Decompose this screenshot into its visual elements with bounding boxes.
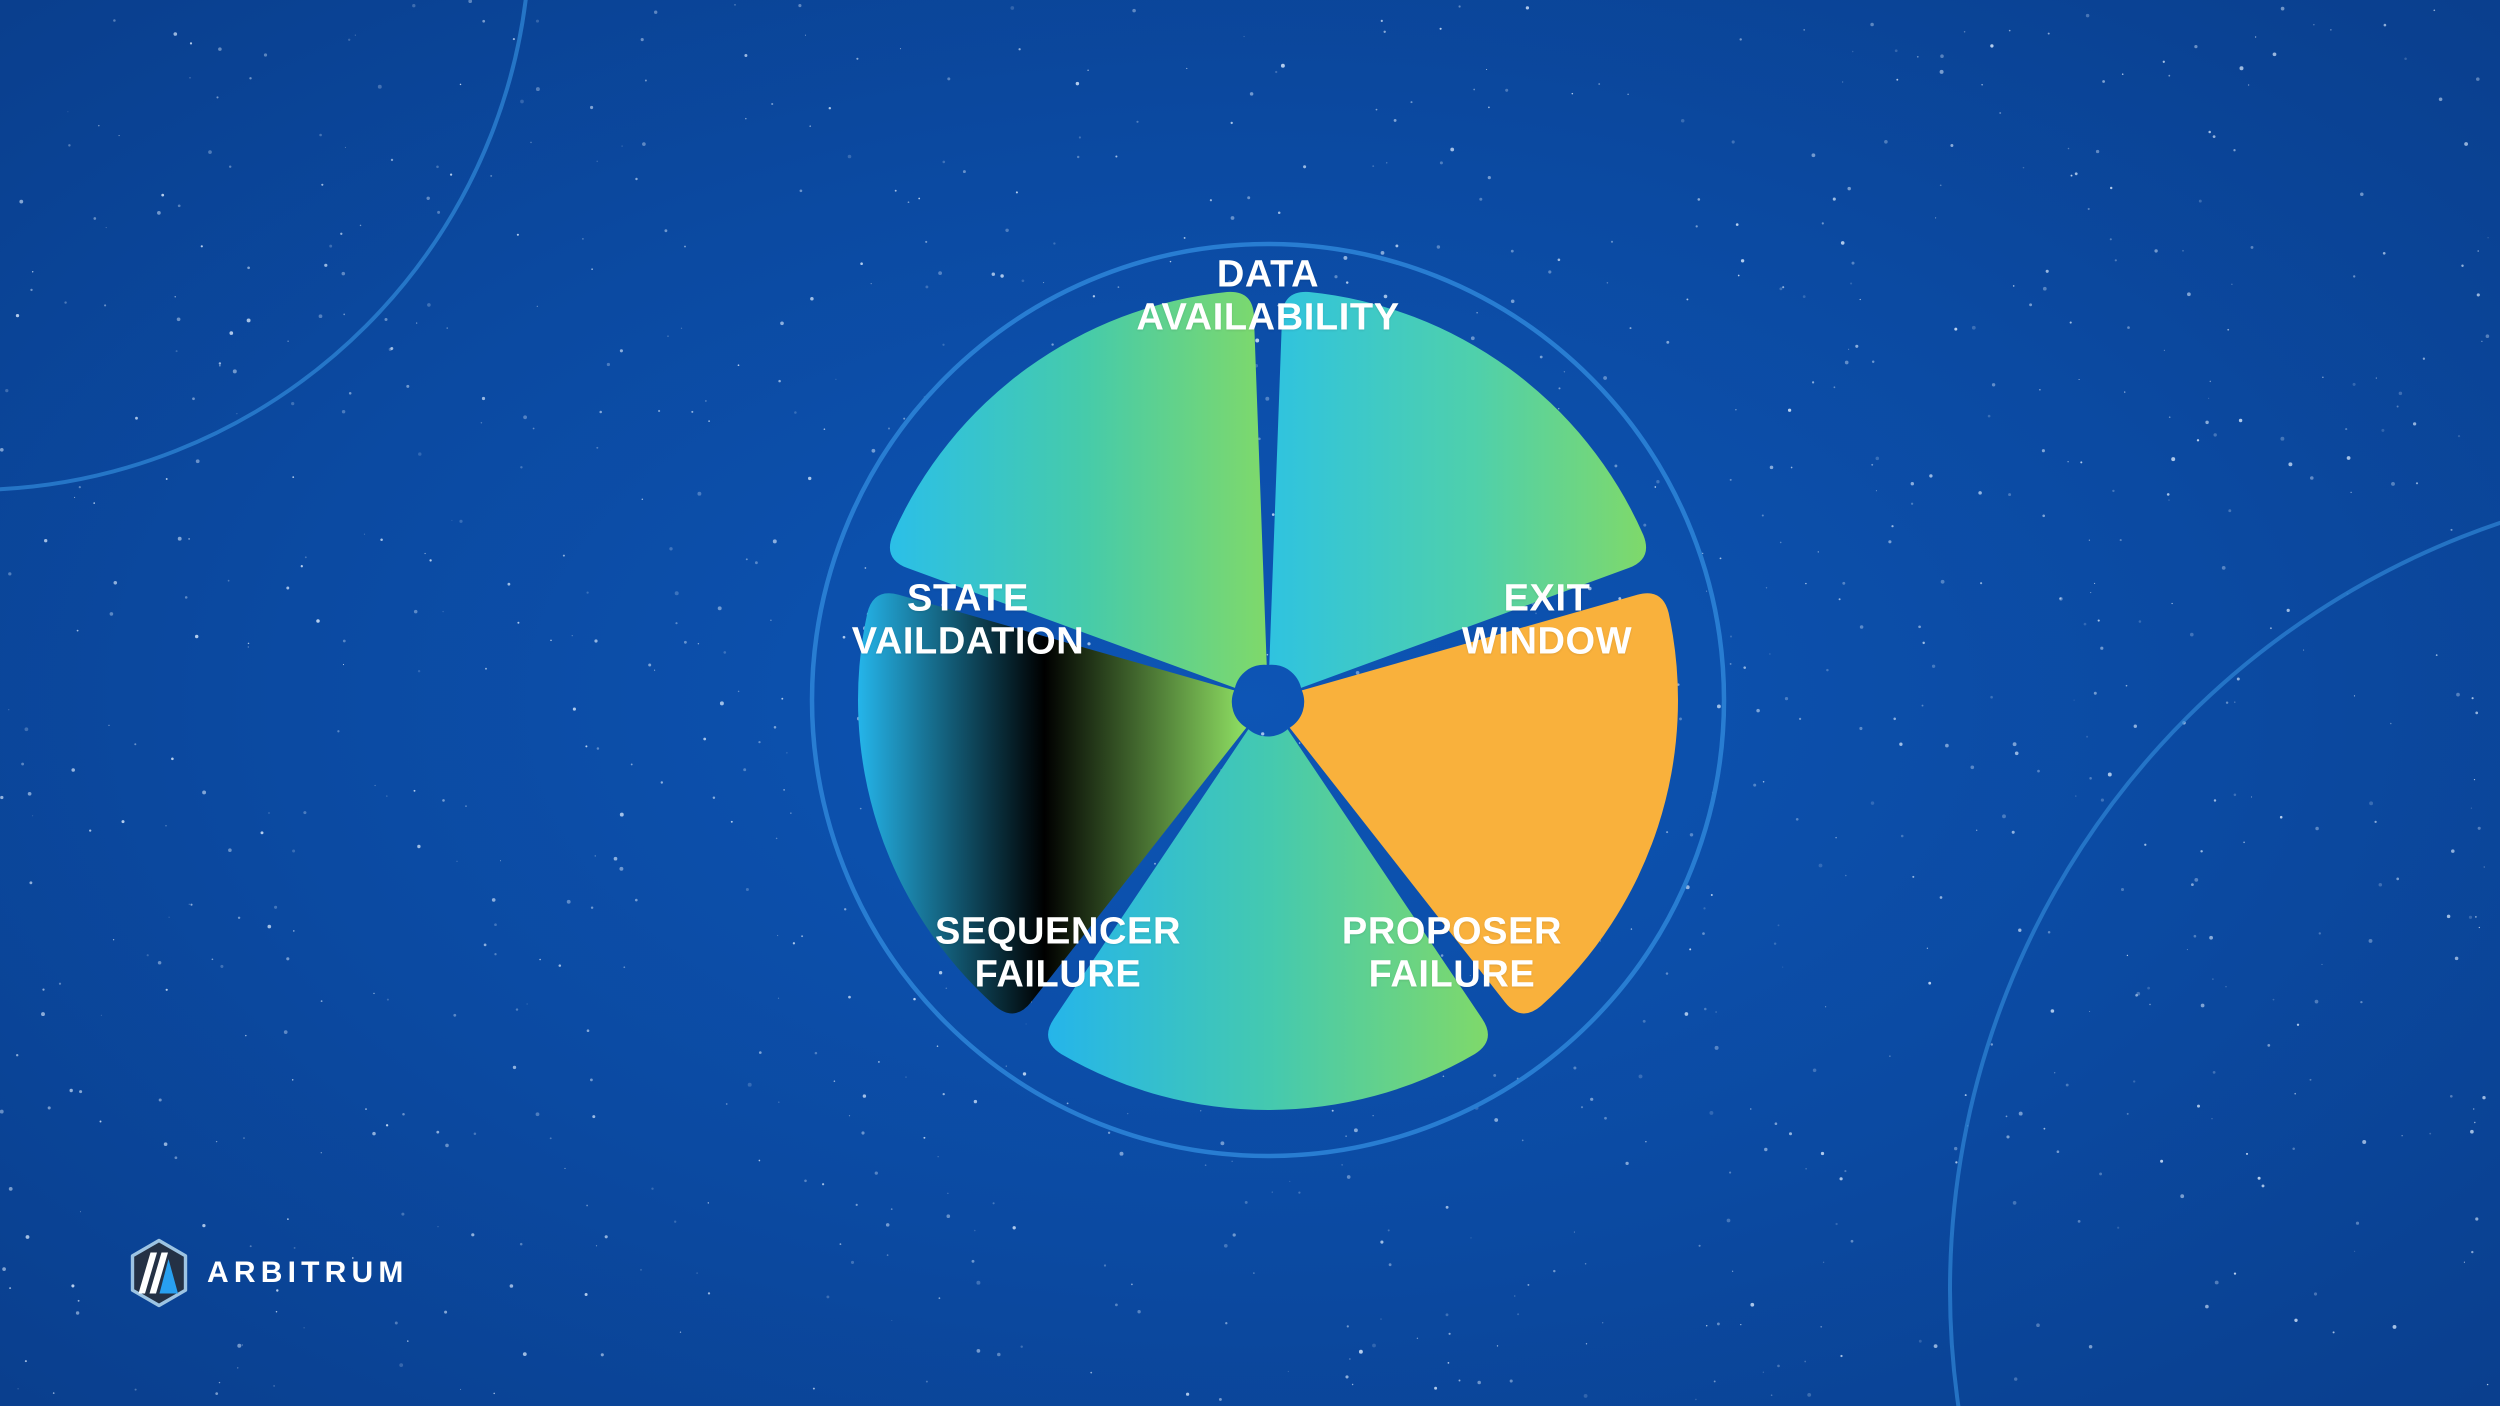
background-fill xyxy=(0,0,2500,1406)
arbitrum-hexagon-logo-icon xyxy=(128,1238,190,1308)
pie-diagram xyxy=(0,0,2500,1406)
brand-lockup: ARBITRUM xyxy=(128,1238,409,1308)
brand-wordmark: ARBITRUM xyxy=(207,1256,409,1290)
poster-canvas: DATA AVAILABILITY EXIT WINDOW PROPOSER F… xyxy=(0,0,2500,1406)
